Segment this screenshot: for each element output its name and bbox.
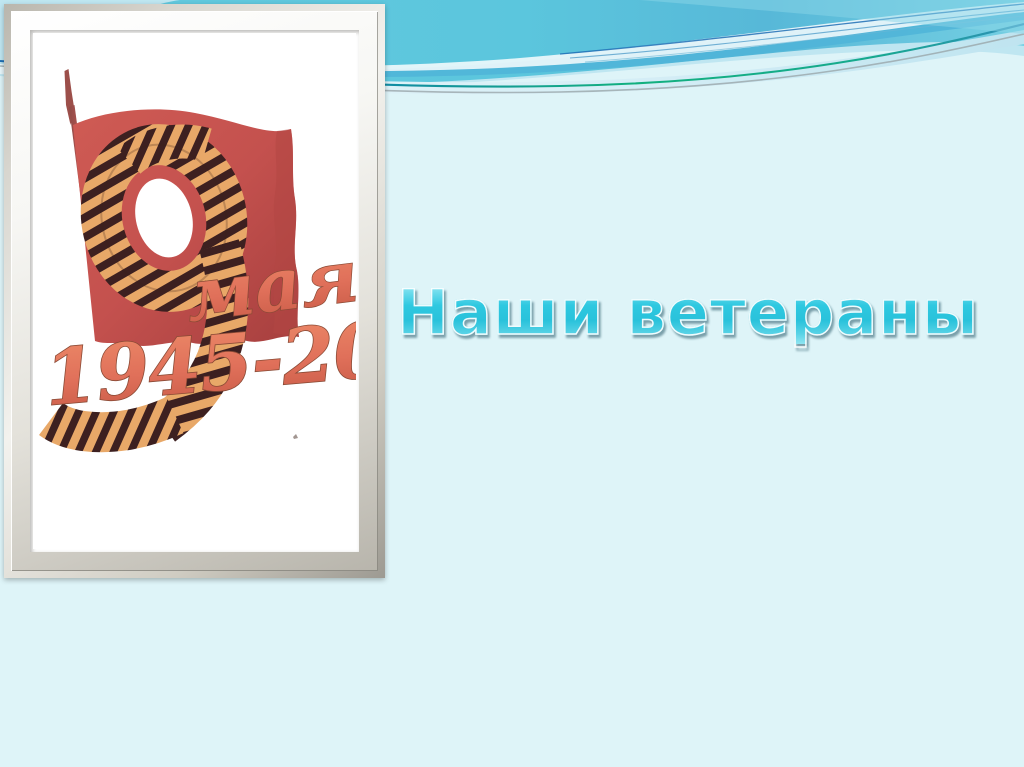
picture-frame-mat: мая 1945-2011 xyxy=(33,33,356,549)
wave-thin-line-3 xyxy=(585,16,1024,62)
wave-thin-line-2 xyxy=(570,10,1024,58)
presentation-slide: мая 1945-2011 Наши ветераны Наши ветеран… xyxy=(0,0,1024,767)
victory-day-poster-artwork: мая 1945-2011 xyxy=(33,33,356,549)
wave-thin-line-1 xyxy=(560,4,1024,54)
page-title: Наши ветераны xyxy=(397,282,979,344)
framed-picture[interactable]: мая 1945-2011 xyxy=(4,4,385,578)
slide-title[interactable]: Наши ветераны Наши ветераны xyxy=(388,268,988,358)
wave-top-right-wash xyxy=(640,0,1024,34)
